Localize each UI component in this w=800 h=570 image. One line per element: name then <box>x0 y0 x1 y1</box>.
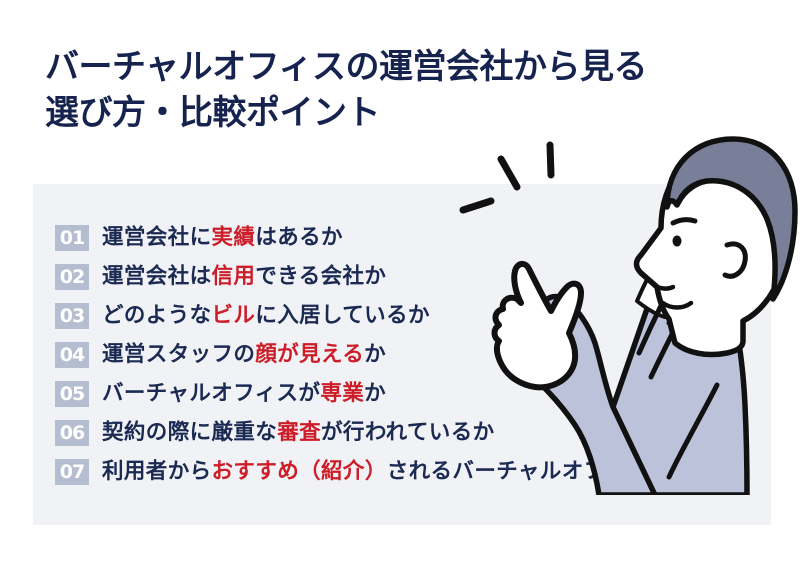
item-number-badge: 06 <box>55 420 89 446</box>
item-label-text: 利用者から <box>102 459 212 483</box>
item-label-text: か <box>364 381 386 405</box>
checklist-item: 01運営会社に実績はあるか <box>55 218 755 257</box>
item-label-highlight: 信用 <box>212 264 256 288</box>
item-label-highlight: 専業 <box>320 381 364 405</box>
item-number-badge: 05 <box>55 381 89 407</box>
item-label: バーチャルオフィスが専業か <box>102 383 386 405</box>
checklist-item: 06契約の際に厳重な審査が行われているか <box>55 413 755 452</box>
item-number-badge: 02 <box>55 264 89 290</box>
item-label-text: 運営会社は <box>102 264 212 288</box>
checklist-item: 02運営会社は信用できる会社か <box>55 257 755 296</box>
item-label-highlight: 顔が見える <box>255 342 364 366</box>
checklist-item: 05バーチャルオフィスが専業か <box>55 374 755 413</box>
item-label-text: に入居しているか <box>255 303 430 327</box>
item-label-text: はあるか <box>255 225 343 249</box>
checklist-item: 04運営スタッフの顔が見えるか <box>55 335 755 374</box>
item-label-highlight: 審査 <box>277 420 321 444</box>
item-label: 契約の際に厳重な審査が行われているか <box>102 422 495 444</box>
item-label: 運営スタッフの顔が見えるか <box>102 344 386 366</box>
item-label: どのようなビルに入居しているか <box>102 305 430 327</box>
item-number-badge: 01 <box>55 225 89 251</box>
item-label-text: できる会社か <box>255 264 386 288</box>
page-root: バーチャルオフィスの運営会社から見る 選び方・比較ポイント 01運営会社に実績は… <box>0 0 800 570</box>
item-number-badge: 04 <box>55 342 89 368</box>
item-label-text: が行われているか <box>321 420 494 444</box>
item-number-badge: 03 <box>55 303 89 329</box>
item-label-text: どのような <box>102 303 212 327</box>
item-label: 利用者からおすすめ（紹介）されるバーチャルオフィスか <box>102 461 671 483</box>
item-label-text: されるバーチャルオフィスか <box>387 459 671 483</box>
checklist: 01運営会社に実績はあるか02運営会社は信用できる会社か03どのようなビルに入居… <box>55 218 755 491</box>
item-label: 運営会社は信用できる会社か <box>102 266 386 288</box>
checklist-item: 07利用者からおすすめ（紹介）されるバーチャルオフィスか <box>55 452 755 491</box>
item-label-text: 運営会社に <box>102 225 212 249</box>
item-label-highlight: おすすめ（紹介） <box>212 459 387 483</box>
item-label-text: バーチャルオフィスが <box>102 381 320 405</box>
item-number-badge: 07 <box>55 459 89 485</box>
item-label-highlight: ビル <box>212 303 256 327</box>
item-label-text: 運営スタッフの <box>102 342 255 366</box>
item-label-highlight: 実績 <box>212 225 256 249</box>
item-label-text: 契約の際に厳重な <box>102 420 277 444</box>
page-title: バーチャルオフィスの運営会社から見る 選び方・比較ポイント <box>45 44 765 136</box>
item-label-text: か <box>364 342 386 366</box>
item-label: 運営会社に実績はあるか <box>102 227 343 249</box>
checklist-item: 03どのようなビルに入居しているか <box>55 296 755 335</box>
